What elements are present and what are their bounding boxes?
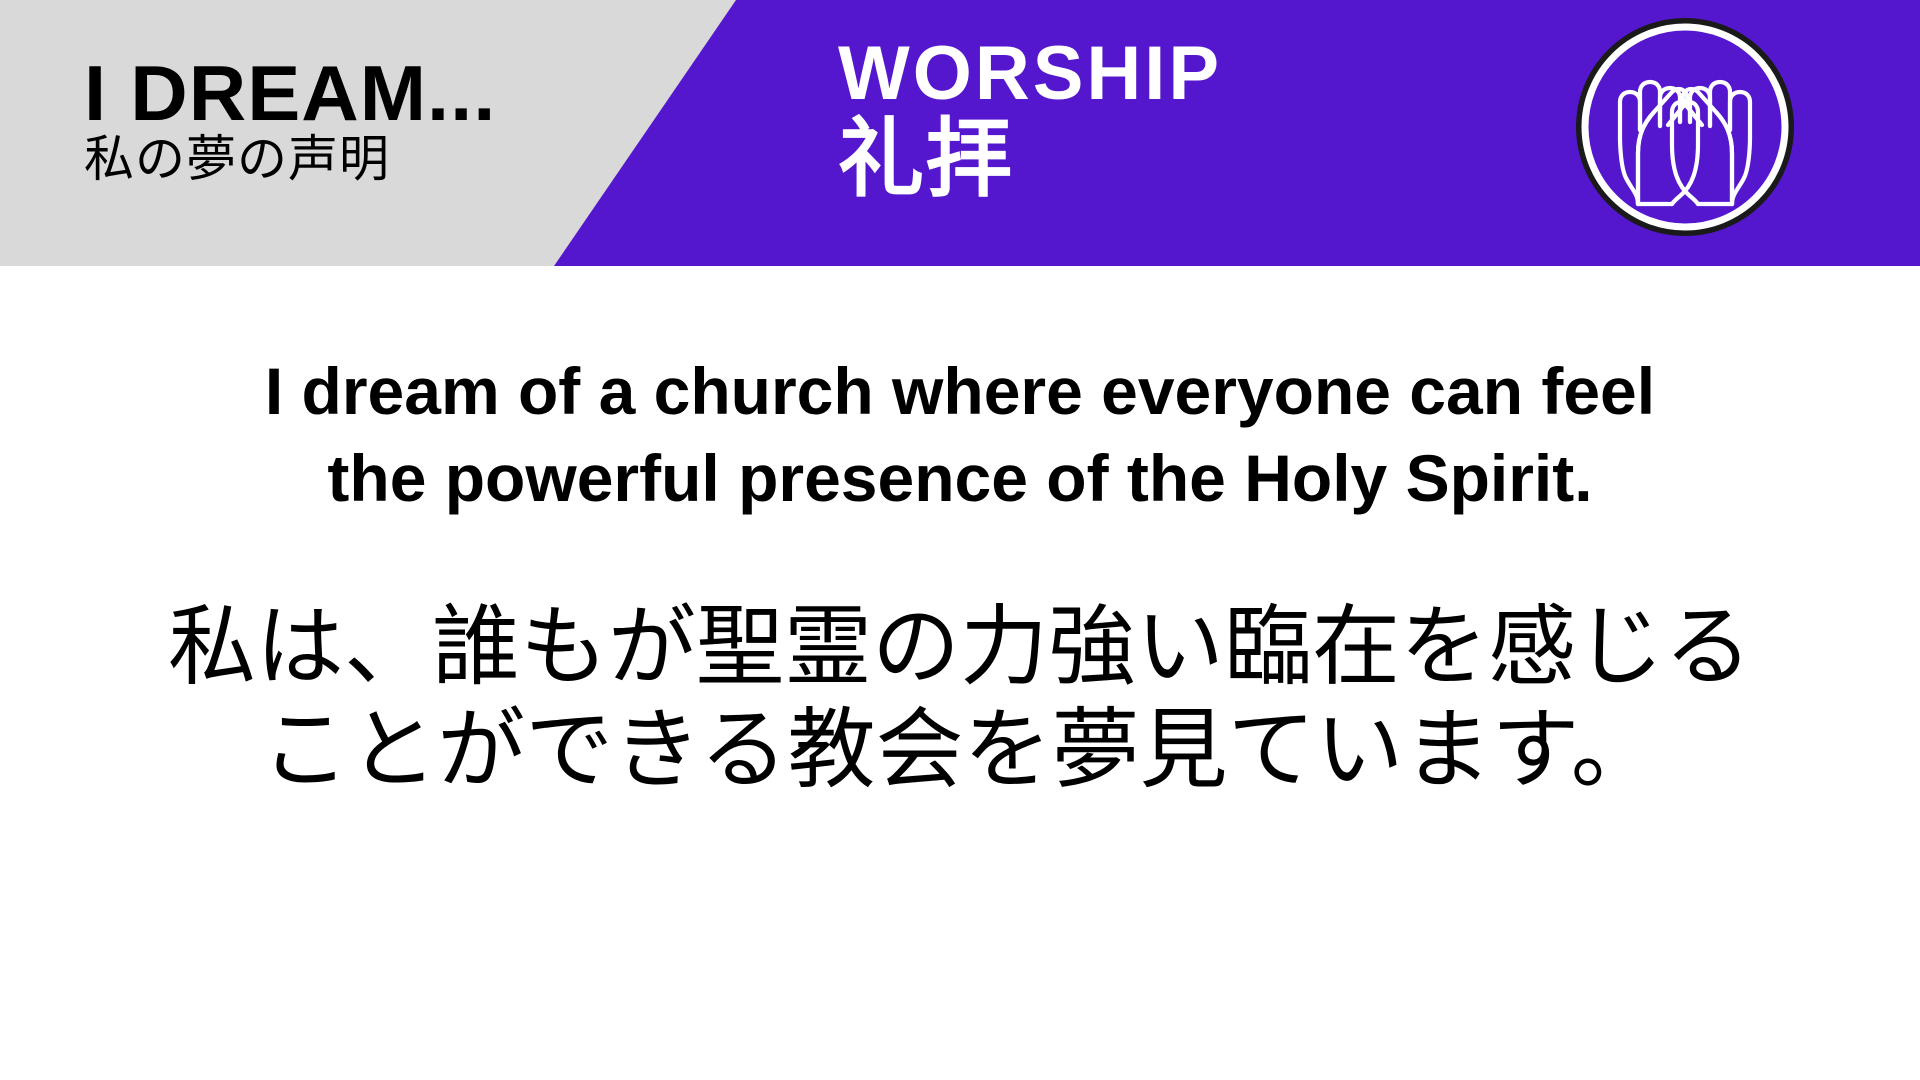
raised-open-hands-icon (1576, 18, 1794, 236)
worship-label-english: WORSHIP (838, 36, 1538, 112)
header-right-title-group: WORSHIP 礼拝 (838, 36, 1538, 204)
japanese-statement-block: 私は、誰もが聖霊の力強い臨在を感じる ことができる教会を夢見ています。 (0, 596, 1920, 802)
japanese-statement-line-1: 私は、誰もが聖霊の力強い臨在を感じる (0, 596, 1920, 699)
slide-body: I dream of a church where everyone can f… (0, 266, 1920, 1080)
english-statement-block: I dream of a church where everyone can f… (0, 348, 1920, 522)
worship-label-japanese: 礼拝 (838, 114, 1538, 204)
slide-header: I DREAM... 私の夢の声明 WORSHIP 礼拝 (0, 0, 1920, 266)
header-left-title-group: I DREAM... 私の夢の声明 (84, 58, 554, 186)
english-statement-line-1: I dream of a church where everyone can f… (0, 348, 1920, 435)
japanese-statement-line-2: ことができる教会を夢見ています。 (0, 699, 1920, 802)
header-title-japanese: 私の夢の声明 (84, 132, 554, 186)
header-title-english: I DREAM... (84, 58, 563, 130)
english-statement-line-2: the powerful presence of the Holy Spirit… (0, 435, 1920, 522)
slide-root: I DREAM... 私の夢の声明 WORSHIP 礼拝 (0, 0, 1920, 1080)
